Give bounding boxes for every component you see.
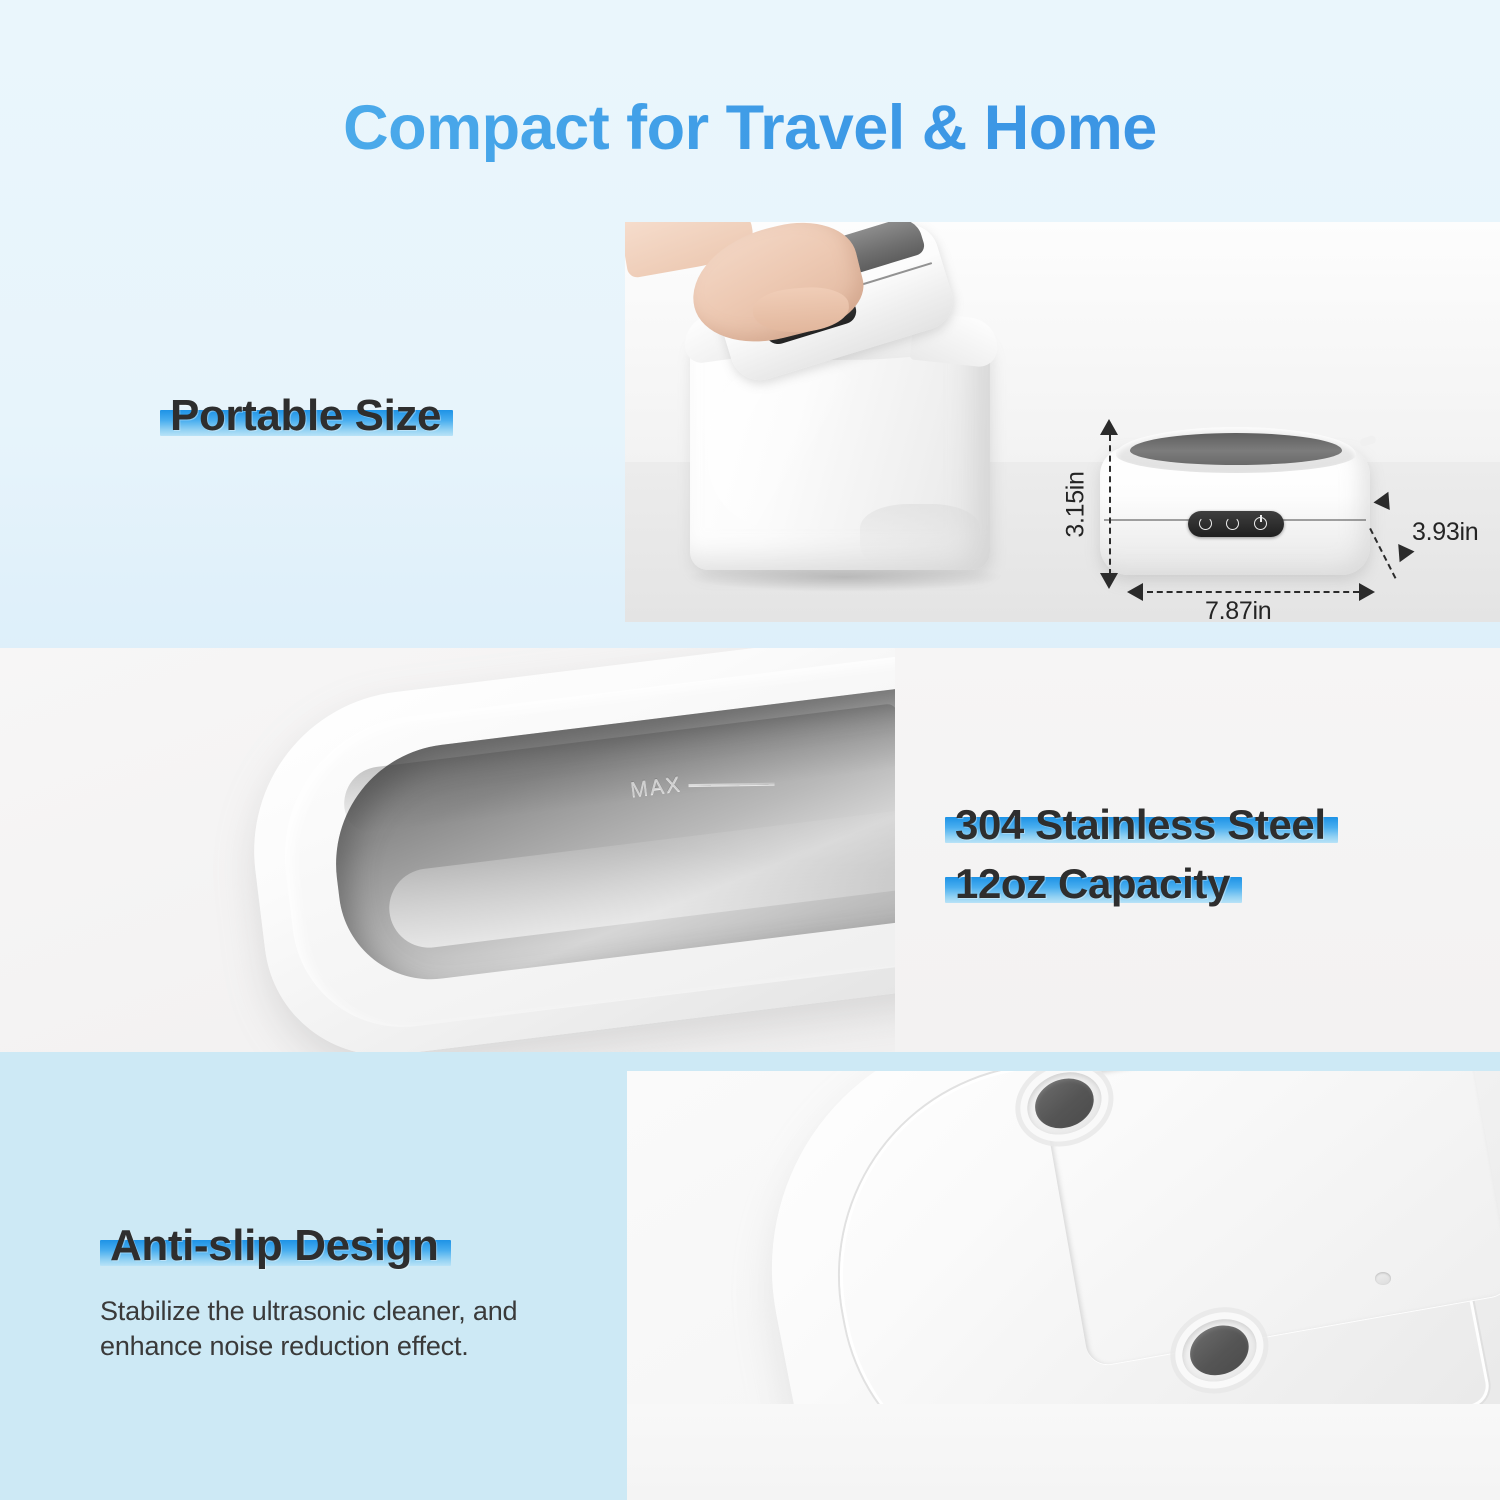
timer-button-icon-1 <box>1199 517 1212 530</box>
feature-label-portable-size: Portable Size <box>160 392 453 440</box>
max-fill-line-mark <box>688 783 774 787</box>
control-panel <box>1188 511 1284 537</box>
pouch-fold-highlight <box>708 358 868 528</box>
width-arrow-right <box>1359 583 1375 601</box>
feature-label-stainless-steel: 304 Stainless Steel 12oz Capacity <box>945 802 1338 907</box>
depth-dimension-line <box>1369 528 1396 579</box>
height-dimension-line <box>1109 435 1111 575</box>
depth-dimension-label: 3.93in <box>1412 518 1478 547</box>
description-line-2: enhance noise reduction effect. <box>100 1329 590 1364</box>
hand <box>633 222 893 362</box>
feature-label-text-line1: 304 Stainless Steel <box>955 802 1326 847</box>
label-row-line1: 304 Stainless Steel <box>945 802 1338 847</box>
depth-arrow-top <box>1373 488 1396 510</box>
page-title: Compact for Travel & Home <box>0 92 1500 164</box>
description-line-1: Stabilize the ultrasonic cleaner, and <box>100 1294 590 1329</box>
dimension-diagram: 3.15in 7.87in 3.93in <box>1055 405 1475 615</box>
width-dimension-line <box>1147 591 1359 593</box>
label-row-line2: 12oz Capacity <box>945 861 1242 906</box>
base-lower-edge <box>627 1404 1500 1500</box>
label-row: Portable Size <box>160 392 453 440</box>
base-small-nub <box>1375 1272 1391 1285</box>
feature-label-text: Anti-slip Design <box>110 1222 439 1270</box>
device-lid-tab <box>1359 435 1377 448</box>
width-arrow-left <box>1127 583 1143 601</box>
height-dimension-label: 3.15in <box>1062 471 1091 537</box>
height-arrow-bottom <box>1100 573 1118 589</box>
feature-label-text: Portable Size <box>170 392 441 440</box>
label-row: Anti-slip Design <box>100 1222 451 1270</box>
stainless-steel-tank-photo: MAX <box>0 648 895 1052</box>
timer-button-icon-2 <box>1226 517 1239 530</box>
depth-arrow-bottom <box>1391 544 1414 566</box>
feature-label-text-line2: 12oz Capacity <box>955 861 1230 906</box>
pouch-fold-shadow <box>860 504 980 564</box>
power-button-icon <box>1254 517 1267 530</box>
cleaner-outer-shell <box>236 648 895 1052</box>
feature-label-anti-slip: Anti-slip Design <box>100 1222 451 1270</box>
device-dimension-illustration <box>1100 427 1370 577</box>
height-arrow-top <box>1100 419 1118 435</box>
device-tank-opening <box>1130 433 1342 465</box>
width-dimension-label: 7.87in <box>1205 597 1271 626</box>
anti-slip-description: Stabilize the ultrasonic cleaner, and en… <box>100 1294 590 1363</box>
